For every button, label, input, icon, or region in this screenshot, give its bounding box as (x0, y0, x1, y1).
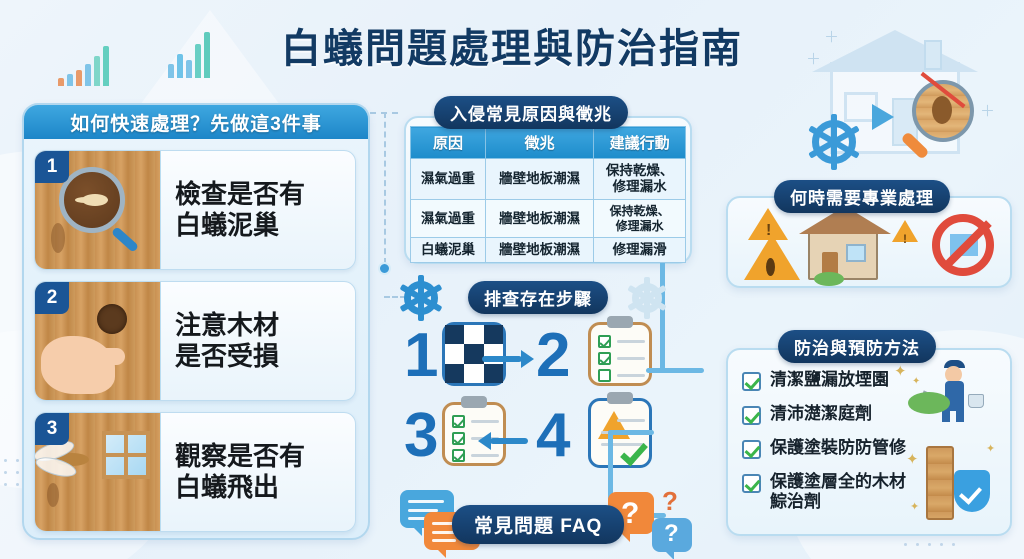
magnifier-termite-icon: 1 (35, 151, 161, 269)
step-number-2: 2 (536, 325, 570, 387)
hand-wood-damage-icon: 2 (35, 282, 161, 400)
list-item[interactable]: 保護塗裝防防管修 (742, 438, 906, 459)
table-row: 濕氣過重 牆壁地板潮濕 保持乾燥、 修理漏水 (411, 159, 686, 200)
question-mark-accent-icon: ? (662, 486, 678, 517)
cell-action-line2: 修理漏水 (616, 219, 664, 233)
step-text-line2: 是否受損 (175, 341, 279, 371)
list-item[interactable]: 1 檢查是否有 白蟻泥巢 (34, 150, 356, 270)
step-text-line1: 觀察是否有 (175, 441, 305, 471)
step-badge: 3 (35, 413, 69, 445)
arrow-step1-to-step2-icon (482, 356, 522, 362)
column-header-action: 建議行動 (594, 127, 686, 159)
cell-action-line1: 保持乾燥、 (610, 204, 670, 218)
protected-wood-shield-icon: ✦ ✦ ✦ (920, 442, 1002, 528)
prevention-item-label: 保護塗層全的木材 鯮治劑 (770, 472, 906, 513)
cell-action-line1: 保持乾燥、 (606, 163, 674, 178)
damaged-house-icon (808, 230, 878, 280)
checkbox-icon[interactable] (742, 474, 761, 493)
prevention-item-label: 清沛濋潔庭劑 (770, 404, 872, 424)
list-item[interactable]: 保護塗層全的木材 鯮治劑 (742, 472, 906, 513)
connector-node (378, 262, 391, 275)
table-header-row: 原因 徵兆 建議行動 (411, 127, 686, 159)
checkbox-icon[interactable] (742, 440, 761, 459)
flying-termite-window-icon: 3 (35, 413, 161, 531)
list-item[interactable]: 2 注意木材 是否受損 (34, 281, 356, 401)
faq-title[interactable]: 常見問題 FAQ (452, 505, 624, 544)
cell-action-line2: 修理漏水 (613, 179, 667, 194)
checkerboard-icon (442, 322, 506, 386)
list-item[interactable]: 3 觀察是否有 白蟻飛出 (34, 412, 356, 532)
quick-action-header: 如何快速處理？先做這3件事 (22, 103, 370, 139)
cell-symptom: 牆壁地板潮濕 (486, 238, 594, 263)
prevention-item-label: 清潔鹽漏放堙園 (770, 370, 889, 390)
connector-pipe-h2 (608, 430, 654, 435)
step-number-1: 1 (404, 325, 438, 387)
checkbox-icon[interactable] (742, 372, 761, 391)
step-text-line2: 白蟻飛出 (175, 472, 279, 502)
connector-dashed-bottom (384, 296, 406, 298)
causes-symptoms-title: 入侵常見原因與徵兆 (434, 96, 628, 129)
causes-symptoms-table: 原因 徵兆 建議行動 濕氣過重 牆壁地板潮濕 保持乾燥、 修理漏水 濕氣過重 牆… (410, 126, 686, 263)
clipboard-checklist-icon (442, 402, 506, 466)
checkbox-icon[interactable] (742, 406, 761, 425)
prevention-item-label: 保護塗裝防防管修 (770, 438, 906, 458)
cell-cause: 濕氣過重 (411, 159, 486, 200)
gear-icon-hero (812, 120, 856, 164)
professional-help-illustration: ! ! (742, 206, 1002, 284)
prevention-item-line1: 保護塗層全的木材 (770, 472, 906, 491)
decorative-arrow-icon (872, 104, 894, 130)
cell-action: 修理漏滑 (594, 238, 686, 263)
inspection-steps-title: 排查存在步驟 (468, 281, 608, 314)
table-row: 白蟻泥巢 牆壁地板潮濕 修理漏滑 (411, 238, 686, 263)
gardener-worker-icon: ✦ ✦ (916, 360, 996, 422)
step-badge: 1 (35, 151, 69, 183)
professional-help-title: 何時需要專業處理 (774, 180, 950, 213)
step-number-3: 3 (404, 405, 438, 467)
connector-pipe-h1 (646, 368, 704, 373)
step-number-4: 4 (536, 405, 570, 467)
prevention-methods-title: 防治與預防方法 (778, 330, 936, 363)
table-row: 濕氣過重 牆壁地板潮濕 保持乾燥、 修理漏水 (411, 200, 686, 238)
step-badge: 2 (35, 282, 69, 314)
step-text-line1: 注意木材 (175, 310, 279, 340)
list-item[interactable]: 清沛濋潔庭劑 (742, 404, 872, 425)
list-item-text: 檢查是否有 白蟻泥巢 (161, 151, 355, 269)
arrow-step4-to-step3-icon (490, 438, 528, 444)
cell-action: 保持乾燥、 修理漏水 (594, 159, 686, 200)
cell-symptom: 牆壁地板潮濕 (486, 200, 594, 238)
cell-symptom: 牆壁地板潮濕 (486, 159, 594, 200)
step-text-line2: 白蟻泥巢 (175, 210, 279, 240)
cell-action: 保持乾燥、 修理漏水 (594, 200, 686, 238)
column-header-cause: 原因 (411, 127, 486, 159)
prevention-item-line2: 鯮治劑 (770, 492, 821, 511)
clipboard-checklist-icon (588, 322, 652, 386)
gear-icon-right (632, 283, 662, 313)
list-item[interactable]: 清潔鹽漏放堙園 (742, 370, 889, 391)
column-header-symptom: 徵兆 (486, 127, 594, 159)
gear-icon-left (404, 281, 438, 315)
page-title: 白蟻問題處理與防治指南 (0, 16, 1024, 74)
connector-dashed-vertical (384, 112, 386, 264)
list-item-text: 注意木材 是否受損 (161, 282, 355, 400)
cell-cause: 濕氣過重 (411, 200, 486, 238)
no-entry-house-icon (932, 214, 994, 276)
list-item-text: 觀察是否有 白蟻飛出 (161, 413, 355, 531)
question-mark-blue-icon: ? (652, 518, 692, 552)
step-text-line1: 檢查是否有 (175, 179, 305, 209)
cell-cause: 白蟻泥巢 (411, 238, 486, 263)
